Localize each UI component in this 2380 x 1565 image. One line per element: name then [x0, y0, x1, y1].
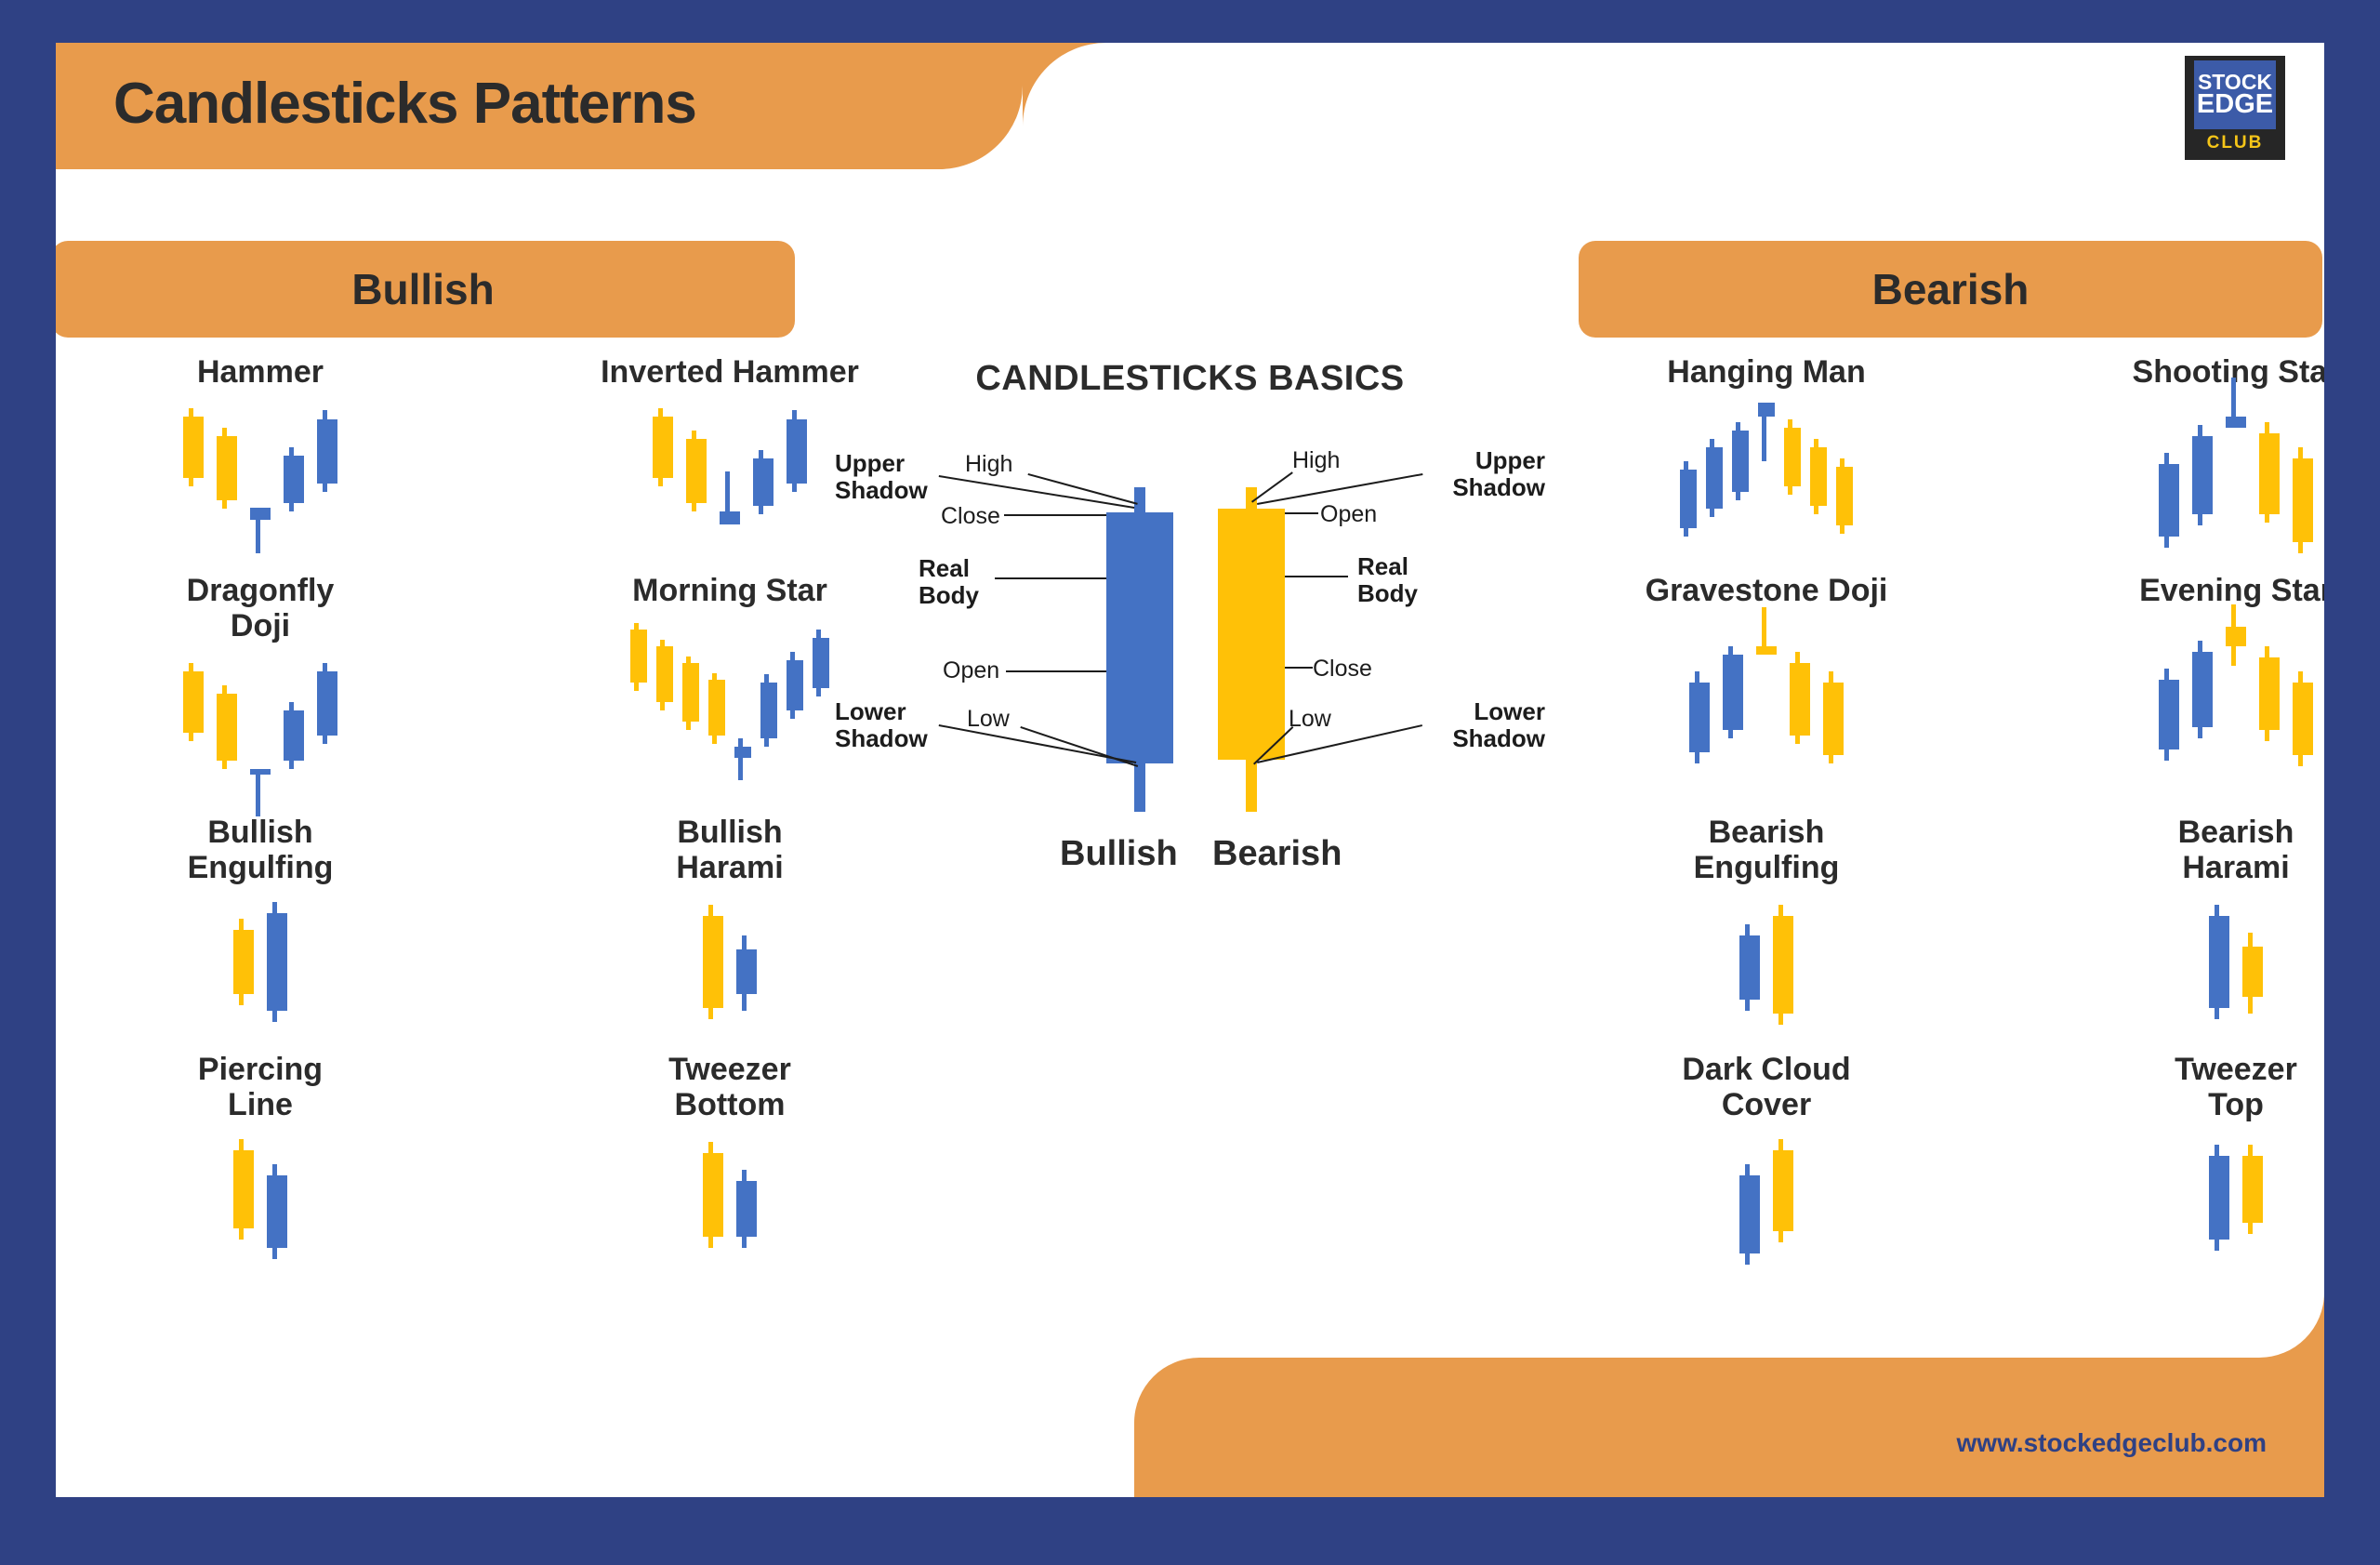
pattern-title: Shooting Star	[2069, 354, 2324, 390]
white-panel: Candlesticks Patterns STOCK EDGE CLUB Bu…	[56, 43, 2324, 1497]
bearish-close-leader	[1285, 667, 1313, 669]
candle-body	[682, 663, 699, 722]
section-header-bearish: Bearish	[1579, 241, 2322, 338]
candle-body	[2293, 458, 2313, 542]
basics-bearish-name: Bearish	[1212, 834, 1342, 874]
bearish-lower-shadow-label: LowerShadow	[1452, 698, 1545, 751]
pattern-title: DragonflyDoji	[93, 573, 428, 644]
candle-body	[233, 930, 254, 994]
pattern-title: BearishHarami	[2069, 815, 2324, 886]
candle-body	[2192, 652, 2213, 727]
pattern-chart	[1599, 616, 1934, 829]
bearish-real-body-label: RealBody	[1357, 553, 1418, 606]
pattern-title: BearishEngulfing	[1599, 815, 1934, 886]
section-header-bullish: Bullish	[56, 241, 795, 338]
candle-body	[1723, 655, 1743, 730]
pattern-cell: Gravestone Doji	[1599, 573, 1934, 829]
candle-body	[1790, 663, 1810, 736]
pattern-chart	[2069, 616, 2324, 829]
candle-body	[1810, 447, 1827, 506]
pattern-title: Hanging Man	[1599, 354, 1934, 390]
candle-body	[1758, 403, 1775, 417]
candle-body	[1732, 431, 1749, 492]
basics-stage: UpperShadowHighCloseRealBodyOpenLowerSha…	[827, 399, 1553, 1217]
infographic-poster: Candlesticks Patterns STOCK EDGE CLUB Bu…	[0, 0, 2380, 1565]
candle-body	[267, 913, 287, 1011]
candle-body	[703, 916, 723, 1008]
candle-body	[1689, 683, 1710, 752]
bullish-low-label: Low	[967, 706, 1010, 733]
logo-club-text: CLUB	[2207, 133, 2264, 153]
bearish-real-body	[1218, 509, 1285, 760]
pattern-title: Gravestone Doji	[1599, 573, 1934, 608]
pattern-chart	[93, 1131, 428, 1345]
candle-body	[760, 683, 777, 738]
candle-body	[2226, 627, 2246, 646]
candle-body	[284, 456, 304, 503]
pattern-cell: PiercingLine	[93, 1052, 428, 1345]
candle-body	[1706, 447, 1723, 509]
bullish-real-body-label: RealBody	[919, 555, 979, 608]
bullish-close-label: Close	[941, 503, 1000, 530]
candle-body	[267, 1175, 287, 1248]
pattern-cell: Dark CloudCover	[1599, 1052, 1934, 1345]
candle-body	[2192, 436, 2213, 514]
candle-body	[183, 671, 204, 733]
bearish-real-body-leader	[1285, 576, 1348, 577]
candle-body	[183, 417, 204, 478]
pattern-title: TweezerTop	[2069, 1052, 2324, 1123]
candle-body	[1773, 1150, 1793, 1231]
candle-body	[1739, 1175, 1760, 1253]
candle-body	[2159, 464, 2179, 537]
bullish-open-label: Open	[943, 657, 999, 684]
footer-notch	[2259, 1293, 2324, 1358]
candle-body	[753, 458, 773, 506]
basics-title: CANDLESTICKS BASICS	[827, 359, 1553, 399]
candle-body	[2209, 916, 2229, 1008]
footer-website-url: www.stockedgeclub.com	[1957, 1428, 2267, 1458]
candle-body	[2209, 1156, 2229, 1240]
candle-body	[703, 1153, 723, 1237]
candle-body	[1773, 916, 1793, 1014]
bearish-label: Bearish	[1872, 264, 2030, 314]
candle-body	[2293, 683, 2313, 755]
candlesticks-basics-diagram: CANDLESTICKS BASICS UpperShadowHighClose…	[827, 359, 1553, 1289]
bullish-open-leader	[1006, 670, 1106, 672]
logo-badge: STOCK EDGE	[2194, 60, 2276, 129]
bearish-upper-shadow-label: UpperShadow	[1452, 447, 1545, 500]
candle-body	[736, 1181, 757, 1237]
candle-body	[2259, 657, 2280, 730]
candle-body	[2242, 1156, 2263, 1223]
footer-banner	[1134, 1358, 2324, 1497]
candle-body	[734, 747, 751, 758]
bullish-high-label: High	[965, 451, 1012, 478]
bearish-low-label: Low	[1289, 706, 1331, 733]
candle-wick	[738, 738, 743, 780]
candle-body	[317, 671, 337, 736]
candle-body	[250, 508, 271, 521]
candle-body	[787, 419, 807, 484]
pattern-title: Evening Star	[2069, 573, 2324, 608]
candle-body	[656, 646, 673, 702]
bearish-high-label: High	[1292, 447, 1340, 474]
candle-body	[1784, 428, 1801, 486]
pattern-title: Hammer	[93, 354, 428, 390]
bullish-upper-shadow-label: UpperShadow	[835, 450, 928, 503]
pattern-title: PiercingLine	[93, 1052, 428, 1123]
candle-body	[233, 1150, 254, 1228]
candle-body	[284, 710, 304, 761]
candle-body	[653, 417, 673, 478]
pattern-chart	[1599, 1131, 1934, 1345]
bearish-lower-wick	[1246, 760, 1257, 812]
bullish-lower-shadow-label: LowerShadow	[835, 698, 928, 751]
bullish-lower-wick	[1134, 763, 1145, 812]
bullish-real-body	[1106, 512, 1173, 763]
header-banner-notch	[1023, 43, 1106, 126]
basics-bullish-name: Bullish	[1060, 834, 1178, 874]
bullish-close-leader	[1004, 514, 1106, 516]
bearish-open-label: Open	[1320, 501, 1377, 528]
candle-body	[1836, 467, 1853, 525]
candle-body	[2159, 680, 2179, 749]
candle-body	[2259, 433, 2280, 514]
logo-edge-text: EDGE	[2197, 92, 2273, 117]
candle-body	[708, 680, 725, 736]
pattern-cell: Evening Star	[2069, 573, 2324, 829]
candle-body	[317, 419, 337, 484]
candle-body	[736, 949, 757, 994]
candle-body	[1680, 470, 1697, 528]
candle-body	[787, 660, 803, 710]
candle-body	[1739, 935, 1760, 1000]
bullish-real-body-leader	[995, 577, 1106, 579]
candle-body	[1756, 646, 1777, 655]
bullish-label: Bullish	[351, 264, 494, 314]
brand-logo: STOCK EDGE CLUB	[2185, 56, 2285, 160]
candle-body	[250, 769, 271, 775]
pattern-title: Dark CloudCover	[1599, 1052, 1934, 1123]
bearish-open-leader	[1285, 512, 1318, 514]
candle-body	[630, 630, 647, 683]
candle-body	[217, 694, 237, 761]
candle-body	[720, 511, 740, 524]
page-title: Candlesticks Patterns	[113, 71, 696, 137]
candle-body	[2242, 947, 2263, 997]
pattern-title: BullishEngulfing	[93, 815, 428, 886]
candle-body	[1823, 683, 1844, 755]
candle-body	[686, 439, 707, 503]
bearish-close-label: Close	[1313, 656, 1372, 683]
candle-body	[2226, 417, 2246, 428]
candle-body	[217, 436, 237, 500]
candle-wick	[256, 769, 260, 816]
